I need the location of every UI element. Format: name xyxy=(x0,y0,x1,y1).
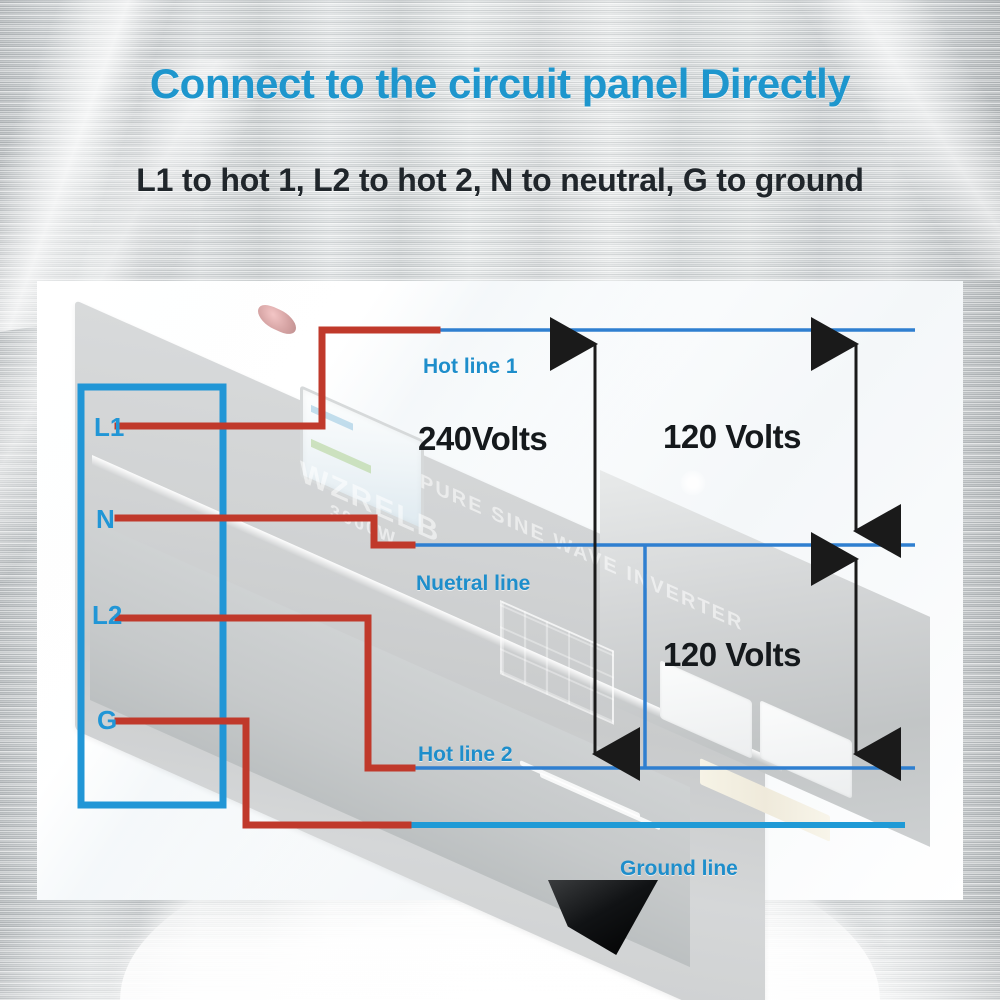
terminal-label-g: G xyxy=(97,705,117,736)
screenshot-root: Connect to the circuit panel Directly L1… xyxy=(0,0,1000,1000)
label-120-volts-lower: 120 Volts xyxy=(663,636,801,674)
label-hot-line-1: Hot line 1 xyxy=(423,355,518,379)
label-120-volts-upper: 120 Volts xyxy=(663,418,801,456)
label-240-volts: 240Volts xyxy=(418,420,547,458)
terminal-label-l2: L2 xyxy=(92,600,122,631)
terminal-label-l1: L1 xyxy=(94,412,124,443)
label-neutral-line: Nuetral line xyxy=(416,572,530,596)
wire-l2-to-hot2 xyxy=(118,618,412,768)
label-ground-line: Ground line xyxy=(620,857,738,881)
label-hot-line-2: Hot line 2 xyxy=(418,743,513,767)
wire-l1-to-hot1 xyxy=(118,330,437,426)
wiring-diagram xyxy=(0,0,1000,1000)
terminal-label-n: N xyxy=(96,504,115,535)
terminal-enclosure-box xyxy=(81,387,223,805)
wire-n-to-neutral xyxy=(118,518,412,545)
